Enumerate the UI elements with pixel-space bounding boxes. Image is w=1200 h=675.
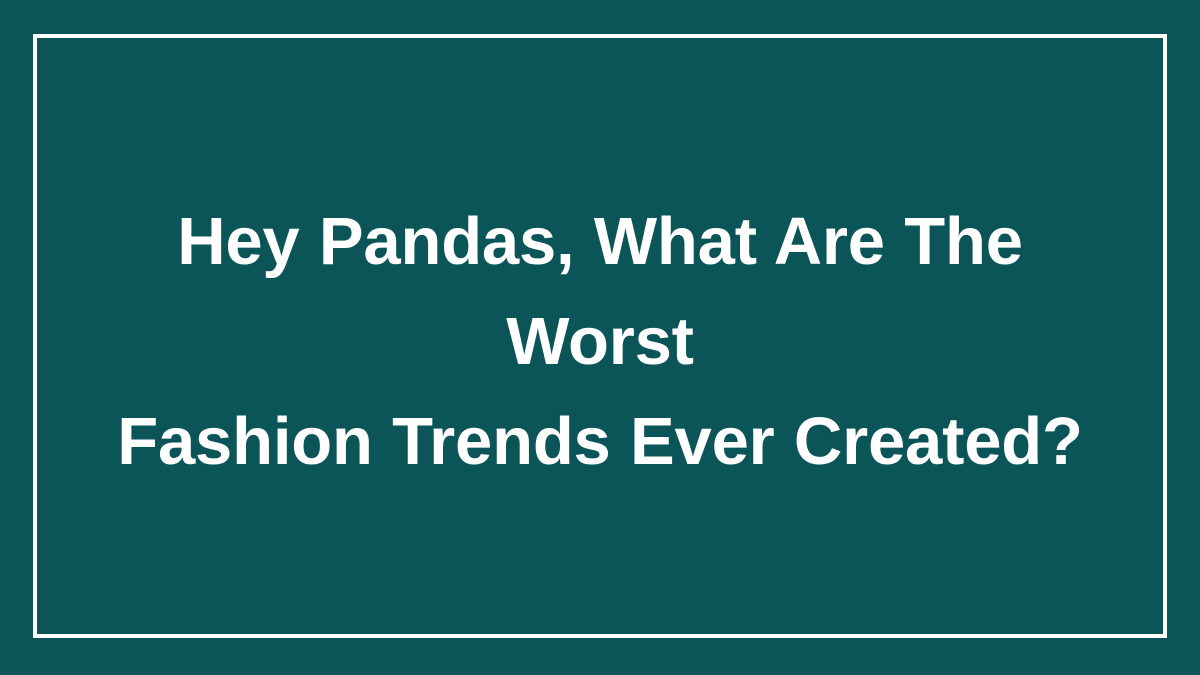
page-title: Hey Pandas, What Are The Worst Fashion T… xyxy=(77,192,1123,492)
poster-border-frame: Hey Pandas, What Are The Worst Fashion T… xyxy=(33,34,1167,638)
title-block: Hey Pandas, What Are The Worst Fashion T… xyxy=(37,192,1163,492)
poster-canvas: Hey Pandas, What Are The Worst Fashion T… xyxy=(0,0,1200,675)
